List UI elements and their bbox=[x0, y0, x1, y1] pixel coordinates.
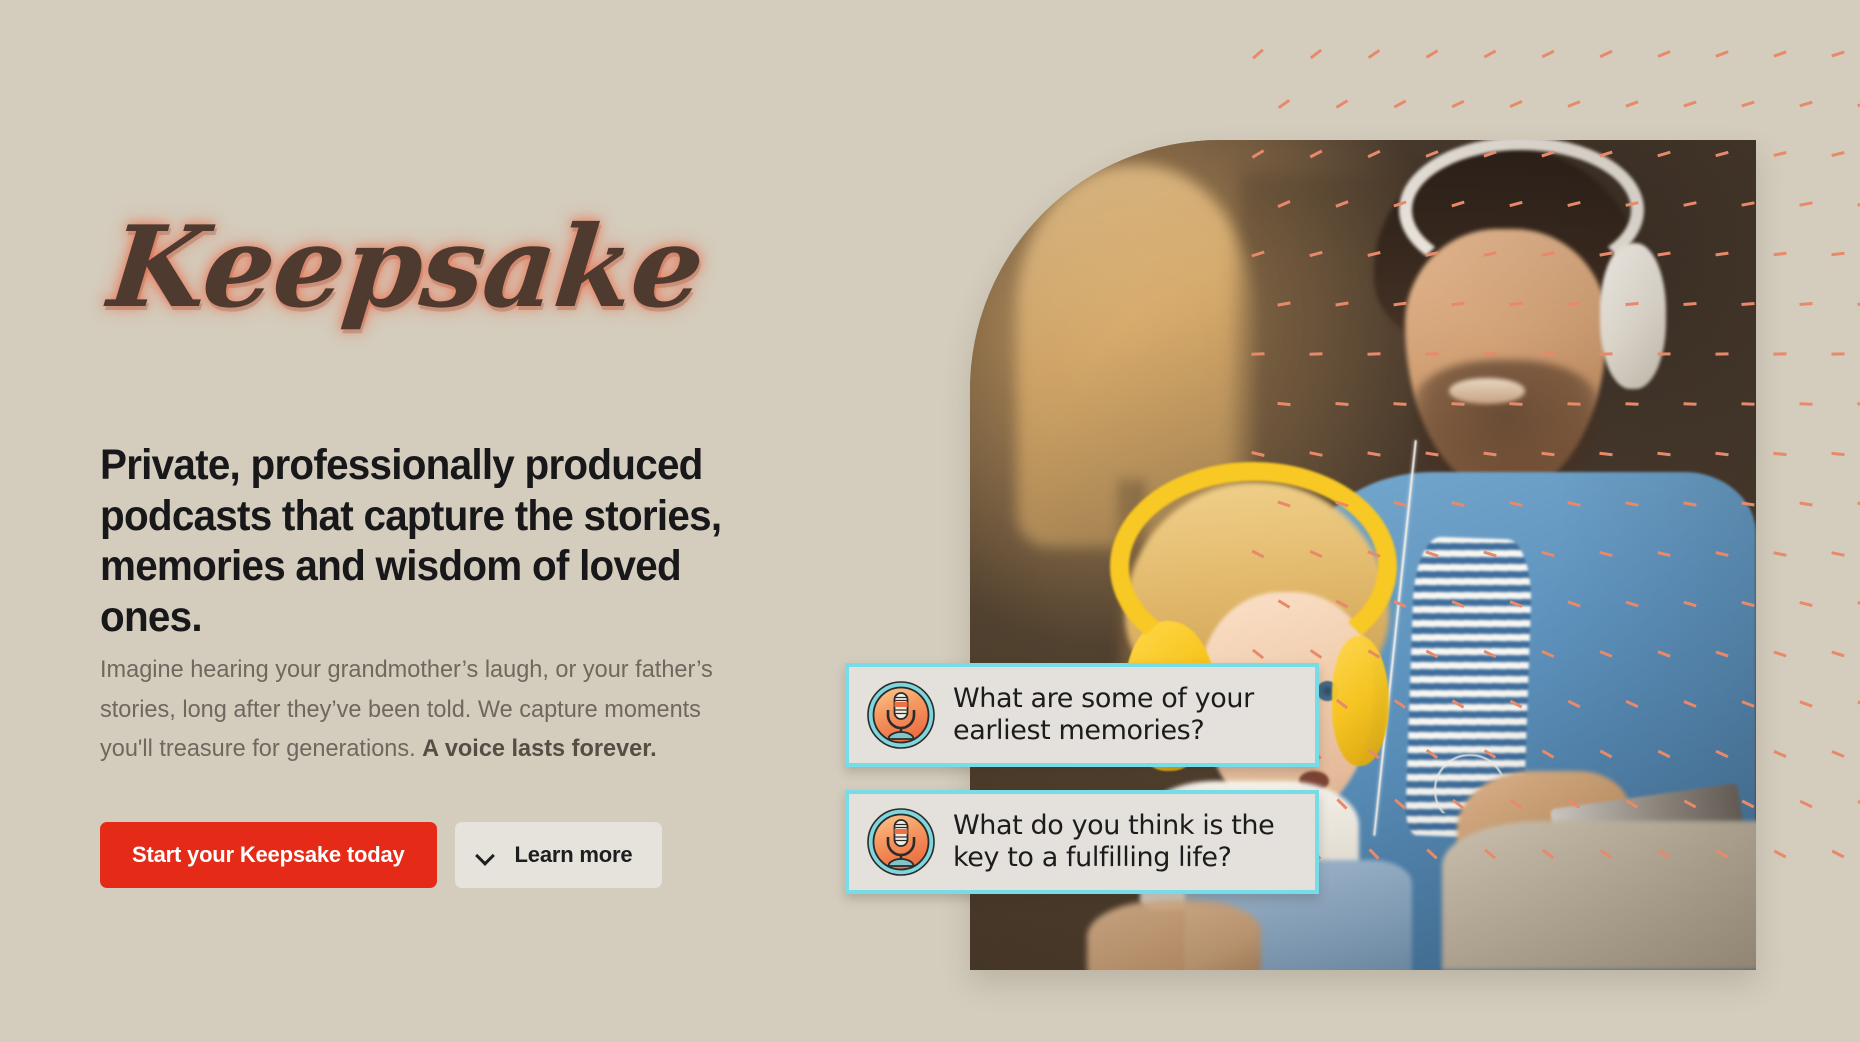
chevron-down-icon bbox=[477, 847, 493, 863]
adult-head bbox=[1355, 148, 1669, 513]
hero-page: Keepsake Private, professionally produce… bbox=[0, 0, 1860, 1042]
yellow-headphone-band bbox=[1110, 462, 1397, 671]
adult-trousers bbox=[1442, 821, 1756, 970]
learn-more-button[interactable]: Learn more bbox=[455, 822, 663, 888]
hero-left-column: Keepsake Private, professionally produce… bbox=[100, 0, 860, 1042]
hero-subcopy: Imagine hearing your grandmother’s laugh… bbox=[100, 650, 714, 769]
question-card[interactable]: What are some of your earliest memories? bbox=[845, 663, 1319, 767]
hero-subcopy-emphasis: A voice lasts forever. bbox=[422, 735, 656, 762]
learn-more-label: Learn more bbox=[515, 842, 633, 868]
adult-supporting-hand bbox=[1087, 900, 1261, 970]
question-text: What do you think is the key to a fulfil… bbox=[953, 810, 1301, 874]
cta-row: Start your Keepsake today Learn more bbox=[100, 822, 662, 888]
page-title: Private, professionally produced podcast… bbox=[100, 440, 739, 643]
start-keepsake-button[interactable]: Start your Keepsake today bbox=[100, 822, 437, 888]
adult-smile bbox=[1449, 378, 1524, 404]
microphone-icon bbox=[866, 680, 936, 750]
microphone-icon bbox=[866, 807, 936, 877]
question-card[interactable]: What do you think is the key to a fulfil… bbox=[845, 790, 1319, 894]
question-card-list: What are some of your earliest memories? bbox=[845, 663, 1319, 894]
brand-logo: Keepsake bbox=[104, 212, 708, 324]
yellow-headphone-cup-right bbox=[1332, 636, 1389, 765]
white-headphone-band bbox=[1399, 140, 1644, 283]
white-headphone-cup bbox=[1600, 243, 1666, 389]
question-text: What are some of your earliest memories? bbox=[953, 683, 1301, 747]
